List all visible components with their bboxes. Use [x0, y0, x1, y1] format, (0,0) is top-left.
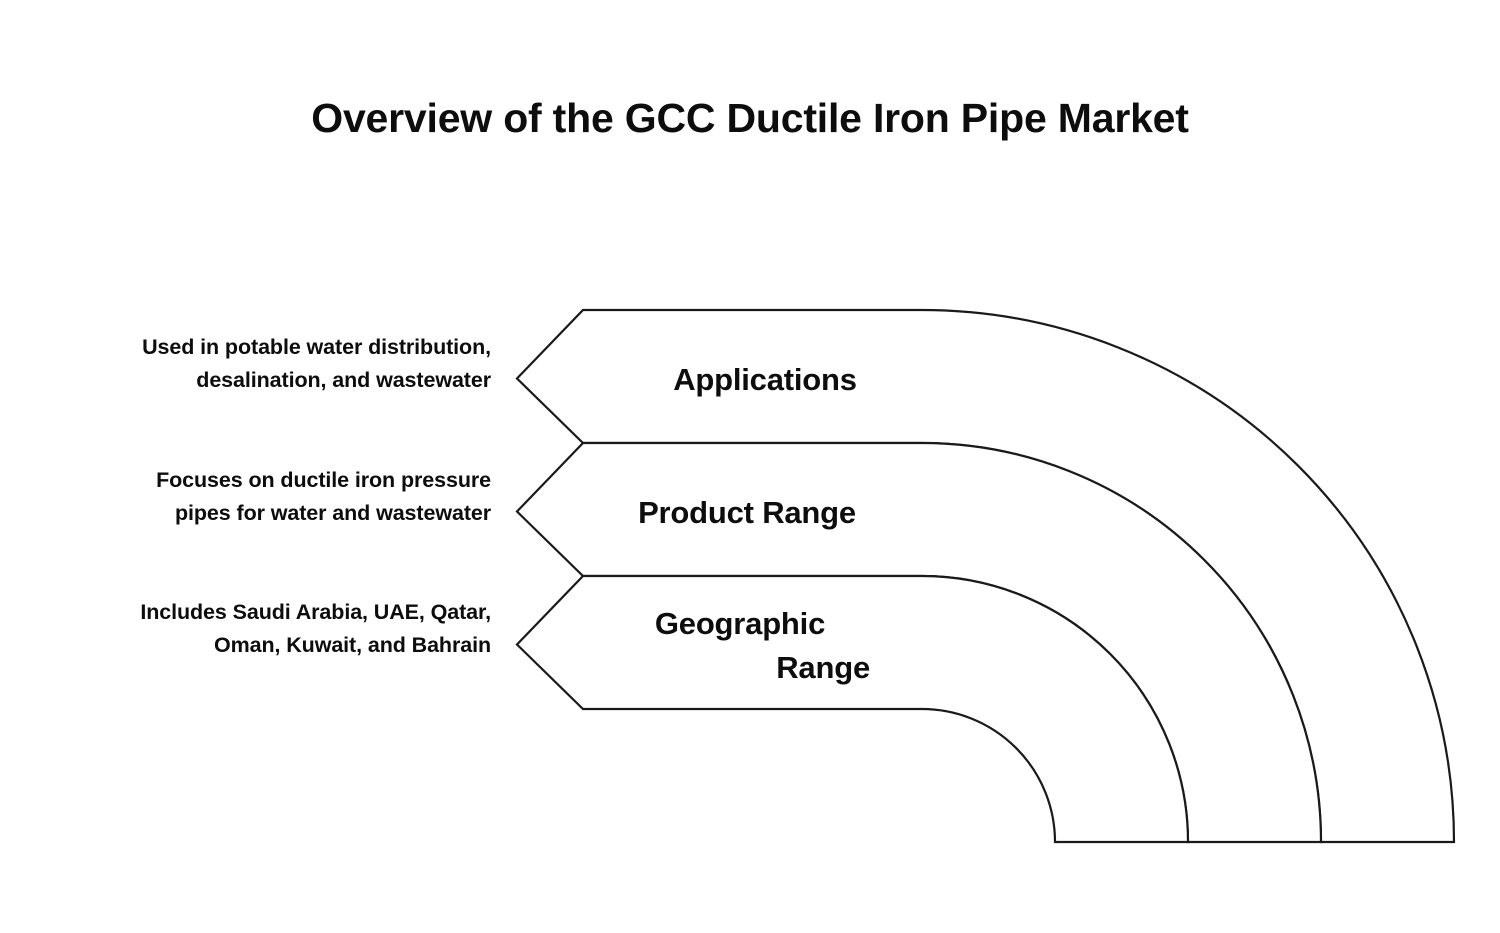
band-label-geographic-range: Geographic Range: [610, 602, 870, 690]
description-product-range: Focuses on ductile iron pressure pipes f…: [120, 464, 491, 529]
band-label-applications-text: Applications: [673, 362, 857, 397]
diagram-canvas: Overview of the GCC Ductile Iron Pipe Ma…: [0, 0, 1500, 933]
description-applications: Used in potable water distribution, desa…: [110, 331, 491, 396]
band-label-product-range-text: Product Range: [638, 495, 856, 530]
description-geographic-range: Includes Saudi Arabia, UAE, Qatar, Oman,…: [130, 596, 491, 661]
band-label-geographic-range-line2: Range: [610, 646, 870, 690]
band-label-applications: Applications: [600, 358, 930, 402]
band-label-geographic-range-line1: Geographic: [655, 606, 825, 641]
band-label-product-range: Product Range: [582, 491, 912, 535]
